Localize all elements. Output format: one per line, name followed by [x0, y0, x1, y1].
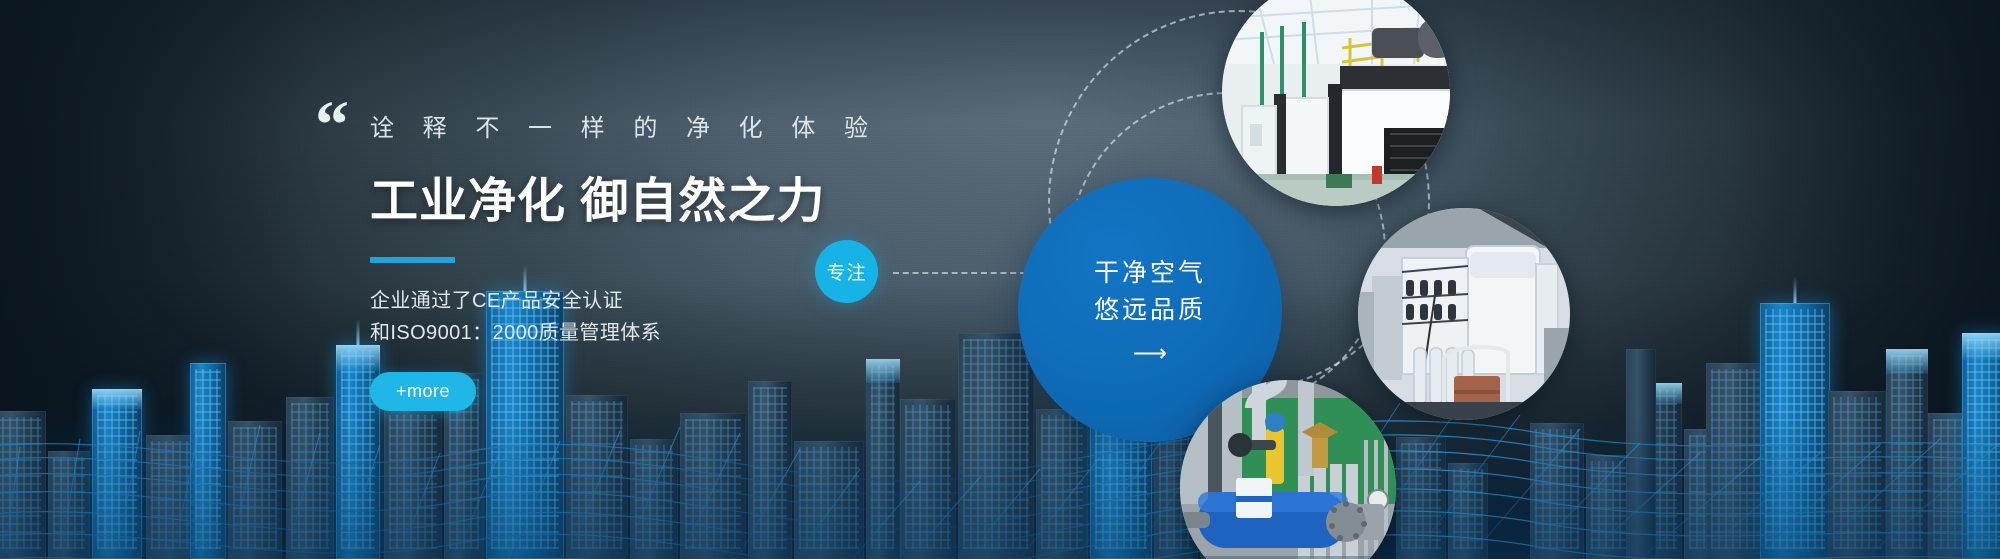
- accent-rule: [370, 257, 455, 263]
- main-circle-line-1: 干净空气: [1094, 255, 1206, 293]
- focus-badge-label: 专注: [826, 258, 866, 285]
- hero-banner: “ 诠 释 不 一 样 的 净 化 体 验 工业净化 御自然之力 企业通过了CE…: [0, 0, 2000, 559]
- dashed-connector-line: [893, 272, 1026, 274]
- arrow-right-icon: ⟶: [1133, 342, 1167, 366]
- more-button[interactable]: +more: [370, 372, 476, 411]
- graphic-cluster: 专注 干净空气 悠远品质 ⟶ 工厂车间内景: [790, 0, 2000, 559]
- quote-mark-icon: “: [315, 90, 347, 158]
- focus-badge[interactable]: 专注: [815, 240, 878, 303]
- main-circle-line-2: 悠远品质: [1094, 292, 1206, 330]
- photo-textile-machinery[interactable]: 纺织设备车间: [1358, 208, 1570, 420]
